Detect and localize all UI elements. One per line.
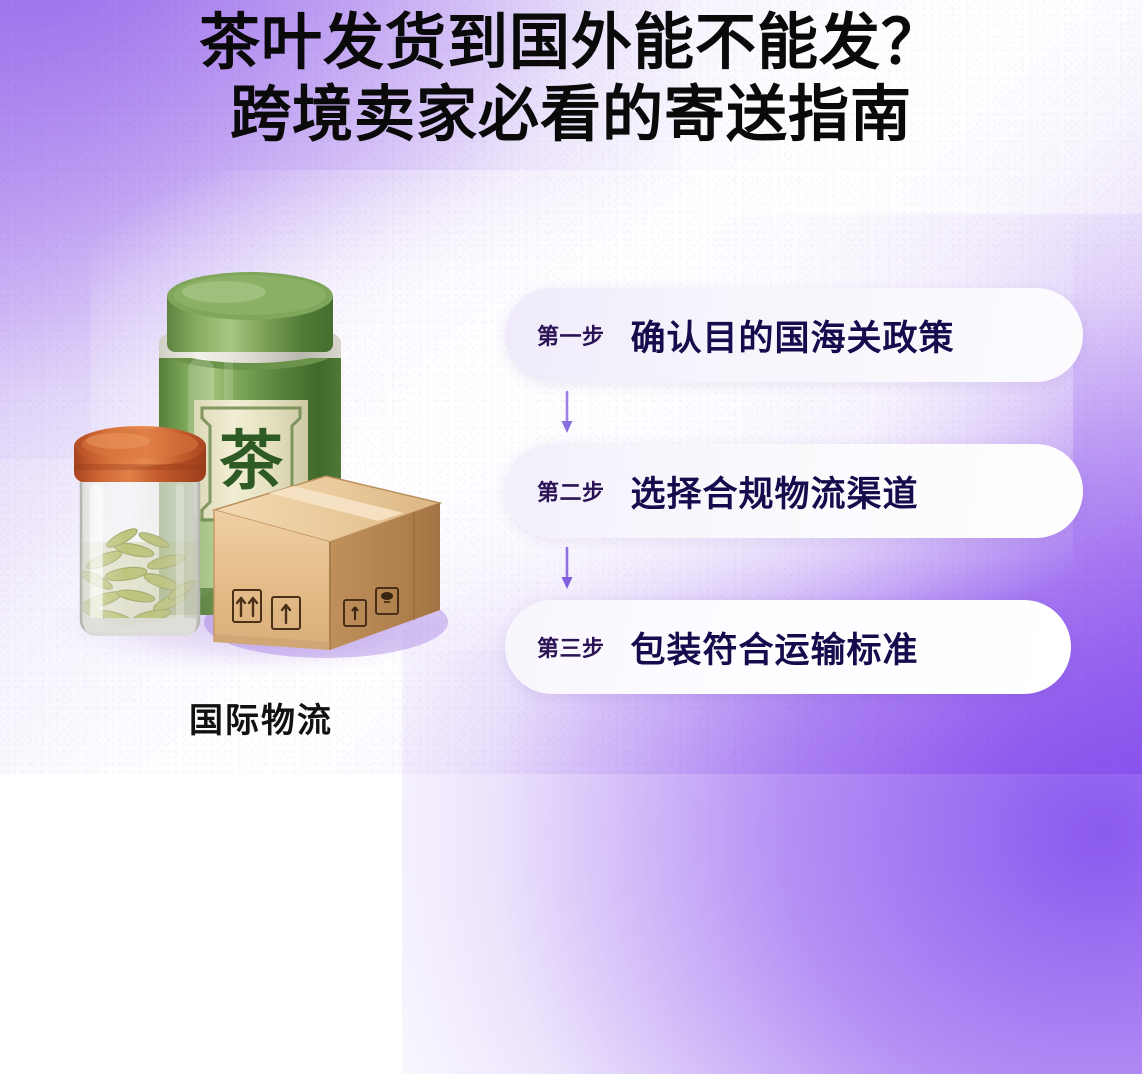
steps-list: 第一步 确认目的国海关政策 第二步 选择合规物流渠道 第三步 包装符合运输标准 (505, 288, 1095, 694)
arrow-down-icon (560, 390, 574, 436)
step-3-label: 第三步 (537, 631, 605, 663)
tin-label-character: 茶 (219, 425, 284, 499)
step-connector-1 (505, 382, 1083, 444)
step-card-2[interactable]: 第二步 选择合规物流渠道 (505, 444, 1083, 538)
caption-text: 国际物流 (189, 701, 333, 741)
product-illustration: 茶 (26, 250, 496, 720)
step-connector-2 (505, 538, 1083, 600)
step-3-text: 包装符合运输标准 (631, 622, 919, 673)
step-2-text: 选择合规物流渠道 (631, 466, 919, 517)
illustration-caption: 国际物流 (26, 693, 496, 742)
step-card-1[interactable]: 第一步 确认目的国海关政策 (505, 288, 1083, 382)
step-card-3[interactable]: 第三步 包装符合运输标准 (505, 600, 1071, 694)
glass-jar-illustration (74, 426, 206, 636)
arrow-down-icon (560, 546, 574, 592)
step-2-label: 第二步 (537, 475, 605, 507)
step-1-label: 第一步 (537, 319, 605, 351)
step-1-text: 确认目的国海关政策 (631, 310, 955, 361)
